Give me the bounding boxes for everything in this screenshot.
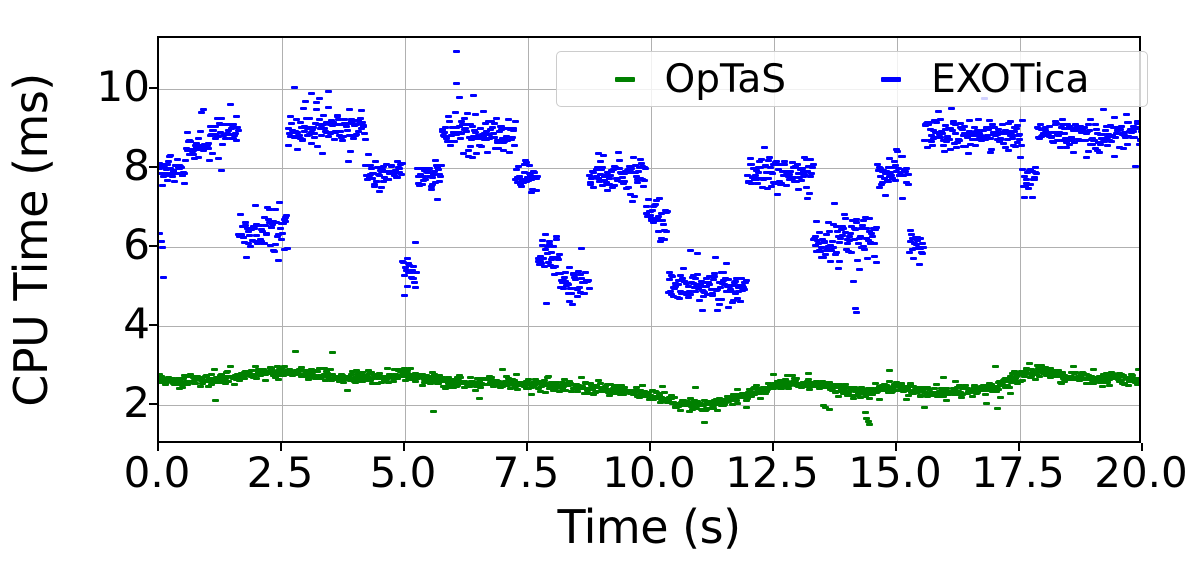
data-point [299, 139, 306, 142]
data-point [344, 389, 351, 392]
data-point [804, 197, 811, 200]
data-point [866, 397, 873, 400]
data-point [920, 246, 927, 249]
data-point [372, 160, 379, 163]
data-point [711, 275, 718, 278]
data-point [174, 158, 181, 161]
data-point [1027, 183, 1034, 186]
data-point [852, 307, 859, 310]
data-point [997, 396, 1004, 399]
data-point [837, 237, 844, 240]
data-point [604, 189, 611, 192]
data-point [692, 386, 699, 389]
data-point [940, 376, 947, 379]
data-point [643, 205, 650, 208]
data-point [233, 139, 240, 142]
data-point [798, 179, 805, 182]
data-point [251, 227, 258, 230]
data-point [419, 183, 426, 186]
data-point [361, 132, 368, 135]
data-point [929, 144, 936, 147]
y-tick-label: 4 [123, 303, 150, 345]
data-point [434, 198, 441, 201]
data-point [313, 101, 320, 104]
x-tick-label: 5.0 [370, 452, 437, 494]
data-point [219, 143, 226, 146]
data-point [1036, 375, 1043, 378]
data-point [826, 230, 833, 233]
data-point [325, 106, 332, 109]
data-point [956, 139, 963, 142]
data-point [413, 271, 420, 274]
data-point [685, 296, 692, 299]
data-point [292, 350, 299, 353]
data-point [638, 162, 645, 165]
data-point [839, 234, 846, 237]
data-point [412, 241, 419, 244]
data-point [357, 117, 364, 120]
data-point [659, 385, 666, 388]
data-point [747, 157, 754, 160]
data-point [399, 162, 406, 165]
data-point [899, 197, 906, 200]
data-point [252, 204, 259, 207]
data-point [224, 370, 231, 373]
data-point [854, 259, 861, 262]
data-point [696, 299, 703, 302]
data-point [288, 122, 295, 125]
data-point [795, 188, 802, 191]
y-tick-mark [149, 166, 157, 168]
data-point [465, 149, 472, 152]
data-point [1123, 113, 1130, 116]
data-point [1086, 129, 1093, 132]
data-point [785, 387, 792, 390]
data-point [404, 257, 411, 260]
x-tick-label: 12.5 [725, 452, 819, 494]
data-point [556, 253, 563, 256]
data-point [178, 166, 185, 169]
data-point [826, 408, 833, 411]
data-point [331, 138, 338, 141]
data-point [869, 235, 876, 238]
data-point [765, 159, 772, 162]
data-point [385, 178, 392, 181]
data-point [794, 163, 801, 166]
data-point [803, 186, 810, 189]
data-point [1140, 376, 1142, 379]
y-tick-label: 6 [123, 224, 150, 266]
data-point [1102, 129, 1109, 132]
data-point [422, 178, 429, 181]
data-point [754, 182, 761, 185]
data-point [227, 365, 234, 368]
data-point [365, 153, 372, 156]
data-point [767, 166, 774, 169]
data-point [566, 266, 573, 269]
data-point [935, 110, 942, 113]
data-point [184, 131, 191, 134]
data-point [398, 173, 405, 176]
data-point [661, 391, 668, 394]
data-point [438, 164, 445, 167]
data-point [164, 179, 171, 182]
data-point [853, 218, 860, 221]
data-point [346, 108, 353, 111]
data-point [992, 365, 999, 368]
data-point [835, 267, 842, 270]
data-point [961, 125, 968, 128]
data-point [243, 256, 250, 259]
data-point [227, 103, 234, 106]
x-axis-label: Time (s) [157, 500, 1141, 554]
data-point [158, 240, 165, 243]
y-tick-label: 10 [97, 66, 150, 108]
data-point [272, 243, 279, 246]
data-point [1061, 132, 1068, 135]
data-point [599, 166, 606, 169]
data-point [543, 302, 550, 305]
data-point [493, 117, 500, 120]
data-point [509, 136, 516, 139]
data-point [1070, 365, 1077, 368]
data-point [284, 247, 291, 250]
data-point [1104, 144, 1111, 147]
data-point [545, 375, 552, 378]
data-point [787, 170, 794, 173]
x-tick-label: 10.0 [602, 452, 696, 494]
data-point [513, 373, 520, 376]
data-point [457, 376, 464, 379]
legend-label-exotica: EXOTica [931, 60, 1089, 99]
data-point [1111, 116, 1118, 119]
data-point [836, 260, 843, 263]
data-point [200, 108, 207, 111]
data-point [1125, 121, 1132, 124]
data-point [550, 245, 557, 248]
data-point [419, 384, 426, 387]
data-point [467, 376, 474, 379]
data-point [891, 160, 898, 163]
data-point [781, 163, 788, 166]
data-point [821, 240, 828, 243]
data-point [664, 210, 671, 213]
legend-item-optas: OpTaS [615, 60, 786, 99]
data-point [238, 233, 245, 236]
data-point [231, 383, 238, 386]
data-point [840, 227, 847, 230]
data-point [676, 297, 683, 300]
data-point [1070, 151, 1077, 154]
y-tick-mark [149, 403, 157, 405]
data-point [548, 251, 555, 254]
data-point [478, 145, 485, 148]
data-point [578, 376, 585, 379]
data-point [165, 160, 172, 163]
data-point [480, 110, 487, 113]
data-point [394, 176, 401, 179]
data-point [630, 156, 637, 159]
data-point [937, 118, 944, 121]
data-point [706, 283, 713, 286]
data-point [540, 257, 547, 260]
data-point [882, 194, 889, 197]
data-point [635, 170, 642, 173]
data-point [663, 230, 670, 233]
data-point [862, 411, 869, 414]
data-point [1124, 143, 1131, 146]
data-point [350, 137, 357, 140]
legend-label-optas: OpTaS [665, 60, 786, 99]
data-point [1016, 138, 1023, 141]
data-point [276, 201, 283, 204]
data-point [743, 279, 750, 282]
data-point [461, 117, 468, 120]
data-point [294, 148, 301, 151]
data-point [362, 138, 369, 141]
data-point [823, 233, 830, 236]
data-point [467, 145, 474, 148]
data-point [195, 137, 202, 140]
data-point [1032, 378, 1039, 381]
data-point [1100, 108, 1107, 111]
data-point [919, 252, 926, 255]
data-point [275, 378, 282, 381]
data-point [1005, 149, 1012, 152]
data-point [456, 96, 463, 99]
data-point [619, 176, 626, 179]
data-point [436, 180, 443, 183]
data-point [709, 292, 716, 295]
data-point [1139, 135, 1141, 138]
data-point [1135, 368, 1141, 371]
data-point [734, 402, 741, 405]
data-point [933, 121, 940, 124]
data-point [272, 208, 279, 211]
data-point [983, 402, 990, 405]
data-point [539, 239, 546, 242]
data-point [765, 177, 772, 180]
data-point [606, 177, 613, 180]
data-point [555, 258, 562, 261]
data-point [917, 237, 924, 240]
data-point [652, 203, 659, 206]
data-point [446, 120, 453, 123]
data-point [1096, 151, 1103, 154]
data-point [211, 368, 218, 371]
data-point [873, 226, 880, 229]
data-point [949, 129, 956, 132]
data-point [1125, 384, 1132, 387]
data-point [263, 232, 270, 235]
data-point [907, 229, 914, 232]
data-point [975, 118, 982, 121]
data-point [291, 86, 298, 89]
data-point [533, 189, 540, 192]
data-point [827, 260, 834, 263]
data-point [766, 156, 773, 159]
data-point [732, 280, 739, 283]
data-point [669, 275, 676, 278]
data-point [561, 276, 568, 279]
x-tick-label: 2.5 [247, 452, 314, 494]
data-point [1120, 147, 1127, 150]
data-point [314, 370, 321, 373]
data-point [645, 198, 652, 201]
data-point [1029, 196, 1036, 199]
data-point [1090, 368, 1097, 371]
y-axis-label: CPU Time (ms) [0, 20, 62, 460]
data-point [1085, 150, 1092, 153]
data-point [253, 377, 260, 380]
x-tick-label: 0.0 [124, 452, 191, 494]
data-point [1031, 178, 1038, 181]
data-point [401, 294, 408, 297]
data-point [725, 306, 732, 309]
data-point [712, 256, 719, 259]
data-point [233, 115, 240, 118]
data-point [343, 125, 350, 128]
data-point [511, 144, 518, 147]
data-point [574, 390, 581, 393]
data-point [921, 406, 928, 409]
data-point [1018, 144, 1025, 147]
y-tick-mark [149, 324, 157, 326]
data-point [876, 186, 883, 189]
data-point [160, 276, 167, 279]
data-point [969, 395, 976, 398]
data-point [807, 175, 814, 178]
data-point [1137, 139, 1141, 142]
data-point [807, 158, 814, 161]
data-point [866, 423, 873, 426]
data-point [285, 144, 292, 147]
data-point [741, 288, 748, 291]
data-point [805, 372, 812, 375]
data-point [919, 242, 926, 245]
data-point [886, 369, 893, 372]
data-point [586, 287, 593, 290]
data-point [943, 399, 950, 402]
data-point [1017, 156, 1024, 159]
data-point [629, 200, 636, 203]
data-point [720, 271, 727, 274]
data-point [714, 288, 721, 291]
data-point [1139, 378, 1141, 381]
data-point [841, 213, 848, 216]
data-point [562, 271, 569, 274]
data-point [518, 185, 525, 188]
chart-legend: OpTaS EXOTica [556, 51, 1148, 107]
data-point [542, 391, 549, 394]
data-point [159, 184, 166, 187]
data-point [531, 171, 538, 174]
data-point [628, 167, 635, 170]
data-point [757, 397, 764, 400]
data-point [844, 242, 851, 245]
data-point [453, 50, 460, 53]
data-point [606, 394, 613, 397]
data-point [755, 171, 762, 174]
data-point [822, 253, 829, 256]
data-point [545, 261, 552, 264]
data-point [445, 115, 452, 118]
data-point [396, 167, 403, 170]
data-point [378, 186, 385, 189]
data-point [437, 175, 444, 178]
data-point [581, 292, 588, 295]
data-point [671, 396, 678, 399]
data-point [345, 160, 352, 163]
data-point [464, 112, 471, 115]
data-point [611, 184, 618, 187]
data-point [1013, 127, 1020, 130]
data-point [205, 142, 212, 145]
data-point [1108, 140, 1115, 143]
data-point [590, 186, 597, 189]
data-point [576, 286, 583, 289]
data-point [344, 129, 351, 132]
data-point [835, 395, 842, 398]
data-point [404, 285, 411, 288]
data-point [831, 202, 838, 205]
data-point [1111, 155, 1118, 158]
data-point [1087, 118, 1094, 121]
data-point [476, 397, 483, 400]
data-point [181, 172, 188, 175]
data-point [429, 176, 436, 179]
data-point [585, 279, 592, 282]
data-point [308, 92, 315, 95]
data-point [836, 241, 843, 244]
data-point [311, 136, 318, 139]
data-point [899, 155, 906, 158]
chart-figure: CPU Time (ms) 246810 0.02.55.07.510.012.… [0, 0, 1196, 576]
data-point [916, 263, 923, 266]
data-point [910, 257, 917, 260]
data-point [743, 406, 750, 409]
data-point [687, 293, 694, 296]
data-point [829, 240, 836, 243]
data-point [311, 132, 318, 135]
data-point [560, 287, 567, 290]
data-point [1083, 156, 1090, 159]
data-point [748, 163, 755, 166]
data-point [655, 215, 662, 218]
data-point [1007, 120, 1014, 123]
data-point [748, 395, 755, 398]
data-point [181, 182, 188, 185]
data-point [701, 421, 708, 424]
data-point [958, 396, 965, 399]
data-point [384, 367, 391, 370]
data-point [447, 144, 454, 147]
data-point [946, 138, 953, 141]
data-point [770, 373, 777, 376]
data-point [752, 174, 759, 177]
legend-swatch-optas [615, 77, 635, 82]
data-point [412, 380, 419, 383]
data-point [1112, 136, 1119, 139]
data-point [463, 130, 470, 133]
data-point [1019, 119, 1026, 122]
data-point [353, 133, 360, 136]
y-tick-label: 8 [123, 145, 150, 187]
data-point [666, 278, 673, 281]
data-point [621, 180, 628, 183]
data-point [282, 220, 289, 223]
data-point [793, 377, 800, 380]
